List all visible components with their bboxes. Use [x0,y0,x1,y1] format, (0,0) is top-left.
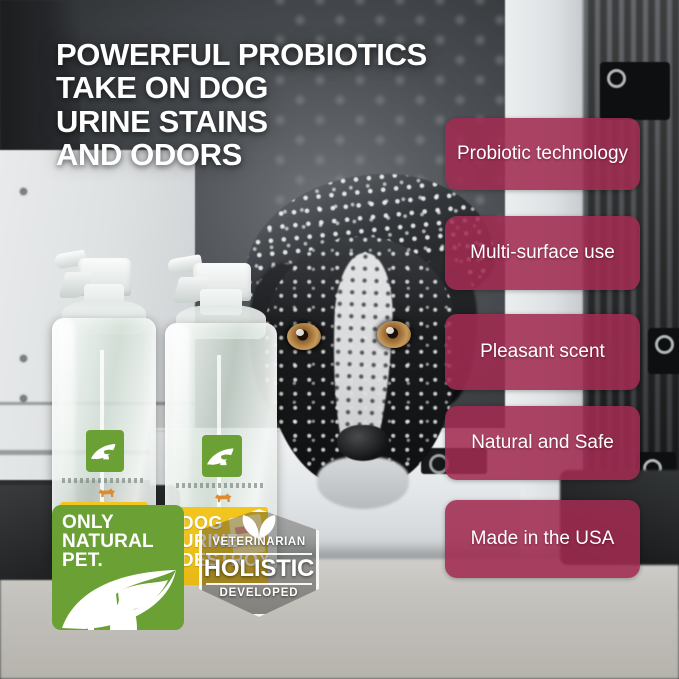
badge-bottom-text: DEVELOPED [199,587,319,599]
dog-eye-left [287,323,321,350]
screw-icon [20,395,27,402]
bottle-tagline-text [62,478,145,483]
leaf-dog-cat-mark-icon [89,433,121,469]
badge-top-text: VETERINARIAN [199,536,319,548]
brand-logo: ONLY NATURAL PET. [52,505,184,630]
leaf-dog-cat-mark-icon [205,438,240,474]
bottle-brand-chip [202,435,242,477]
dog-nose [337,425,389,461]
screw-icon [20,188,27,195]
bottle-tagline-text [176,483,266,488]
holistic-badge: VETERINARIAN HOLISTIC DEVELOPED [199,509,319,617]
feature-callout-natural-and-safe[interactable]: Natural and Safe [445,406,640,480]
brand-logo-text: ONLY NATURAL PET. [62,513,154,570]
badge-main-text: HOLISTIC [199,555,319,583]
dog-chin [317,457,409,509]
dog-eye-right [377,321,411,348]
feature-callout-probiotic-technology[interactable]: Probiotic technology [445,118,640,190]
feature-callout-pleasant-scent[interactable]: Pleasant scent [445,314,640,390]
feature-callout-list: Probiotic technology Multi-surface use P… [445,0,679,679]
bottle-brand-chip [86,430,123,472]
feature-callout-multi-surface-use[interactable]: Multi-surface use [445,216,640,290]
badge-divider [206,583,312,585]
headline-text: POWERFUL PROBIOTICS TAKE ON DOG URINE ST… [56,38,427,172]
advertisement-image: DOG URINE DESTROYER DOG URINE DESTROYER [0,0,679,679]
leaf-dog-cat-mark-icon [58,568,182,630]
screw-icon [20,355,27,362]
feature-callout-made-in-the-usa[interactable]: Made in the USA [445,500,640,578]
